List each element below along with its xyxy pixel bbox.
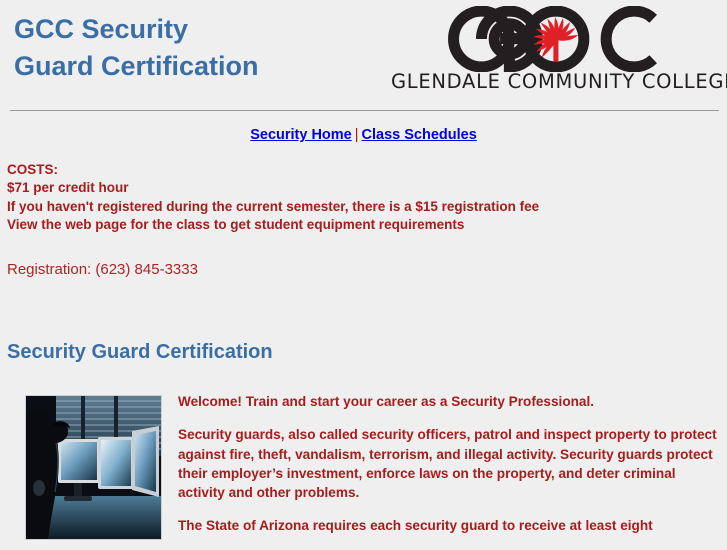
costs-line-credit-hour: $71 per credit hour — [7, 179, 539, 197]
costs-line-equipment: View the web page for the class to get s… — [7, 216, 539, 234]
gcc-logo-mark — [429, 6, 683, 72]
page-title-line-2: Guard Certification — [14, 48, 259, 85]
page-title-line-1: GCC Security — [14, 11, 259, 48]
costs-line-registration-fee: If you haven't registered during the cur… — [7, 198, 539, 216]
body-paragraph-arizona: The State of Arizona requires each secur… — [178, 516, 721, 535]
nav-link-security-home[interactable]: Security Home — [250, 127, 352, 143]
body-paragraph-description: Security guards, also called security of… — [178, 425, 721, 502]
header-divider — [10, 110, 719, 111]
security-guard-monitors-photo — [25, 395, 162, 540]
page-title: GCC Security Guard Certification — [14, 11, 259, 86]
site-navigation: Security Home|Class Schedules — [0, 127, 727, 143]
photo-graphic — [26, 396, 161, 539]
nav-link-class-schedules[interactable]: Class Schedules — [362, 127, 477, 143]
body-text: Welcome! Train and start your career as … — [178, 392, 721, 550]
costs-block: COSTS: $71 per credit hour If you haven'… — [7, 161, 539, 234]
section-heading: Security Guard Certification — [7, 341, 273, 364]
registration-phone: Registration: (623) 845-3333 — [7, 261, 198, 278]
nav-separator: | — [352, 127, 362, 143]
main-content: Welcome! Train and start your career as … — [0, 392, 727, 545]
costs-heading: COSTS: — [7, 161, 539, 179]
gcc-logo: GLENDALE COMMUNITY COLLEGE — [391, 6, 721, 93]
page-header: GCC Security Guard Certification — [0, 0, 727, 110]
body-paragraph-welcome: Welcome! Train and start your career as … — [178, 392, 721, 411]
gcc-logo-wordmark: GLENDALE COMMUNITY COLLEGE — [391, 70, 721, 93]
